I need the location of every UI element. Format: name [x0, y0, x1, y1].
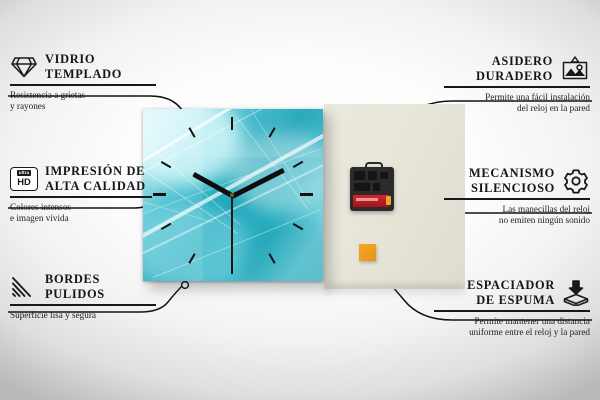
feature-subtitle: Resistencia a grietas y rayones [10, 90, 156, 113]
feature-title: MECANISMO SILENCIOSO [469, 166, 555, 195]
feature-title: ESPACIADOR DE ESPUMA [467, 278, 555, 307]
feature-title: VIDRIO TEMPLADO [45, 52, 122, 81]
divider [10, 84, 156, 86]
clock-mechanism [350, 167, 394, 211]
feature-subtitle: Las manecillas del reloj no emiten ningú… [444, 204, 590, 227]
infographic-stage: VIDRIO TEMPLADO Resistencia a grietas y … [0, 0, 600, 400]
divider [444, 86, 590, 88]
feature-asidero-duradero: ASIDERO DURADERO Permite una fácil insta… [444, 54, 590, 114]
feature-impresion-alta-calidad: ultra HD IMPRESIÓN DE ALTA CALIDAD Color… [10, 164, 152, 224]
ultra-hd-icon-large-text: HD [17, 177, 31, 187]
divider [434, 310, 590, 312]
feature-subtitle: Permite mantener una distancia uniforme … [434, 316, 590, 339]
ultra-hd-icon: ultra HD [10, 167, 38, 191]
gear-icon [562, 168, 590, 194]
framed-picture-hanger-icon [560, 56, 590, 82]
diamond-icon [10, 55, 38, 79]
divider [444, 198, 590, 200]
feature-title: ASIDERO DURADERO [476, 54, 553, 83]
feature-subtitle: Permite una fácil instalación del reloj … [444, 92, 590, 115]
glass-wall-clock [143, 109, 323, 281]
divider [10, 196, 152, 198]
feature-title: IMPRESIÓN DE ALTA CALIDAD [45, 164, 146, 193]
divider [10, 304, 156, 306]
hand-cap [230, 193, 234, 197]
feature-subtitle: Superficie lisa y segura [10, 310, 156, 321]
mechanism-body [350, 167, 394, 211]
feature-espaciador-de-espuma: ESPACIADOR DE ESPUMA Permite mantener un… [434, 278, 590, 338]
foam-spacer-part [359, 244, 376, 261]
product-photo [143, 104, 365, 289]
second-hand [231, 195, 233, 261]
feature-mecanismo-silencioso: MECANISMO SILENCIOSO Las manecillas del … [444, 166, 590, 226]
feature-vidrio-templado: VIDRIO TEMPLADO Resistencia a grietas y … [10, 52, 156, 112]
feature-subtitle: Colores intensos e imagen vívida [10, 202, 152, 225]
foam-spacer-icon [562, 280, 590, 306]
feature-bordes-pulidos: BORDES PULIDOS Superficie lisa y segura [10, 272, 156, 321]
feature-title: BORDES PULIDOS [45, 272, 105, 301]
mechanism-battery [353, 195, 389, 207]
polished-edge-icon [10, 275, 38, 299]
